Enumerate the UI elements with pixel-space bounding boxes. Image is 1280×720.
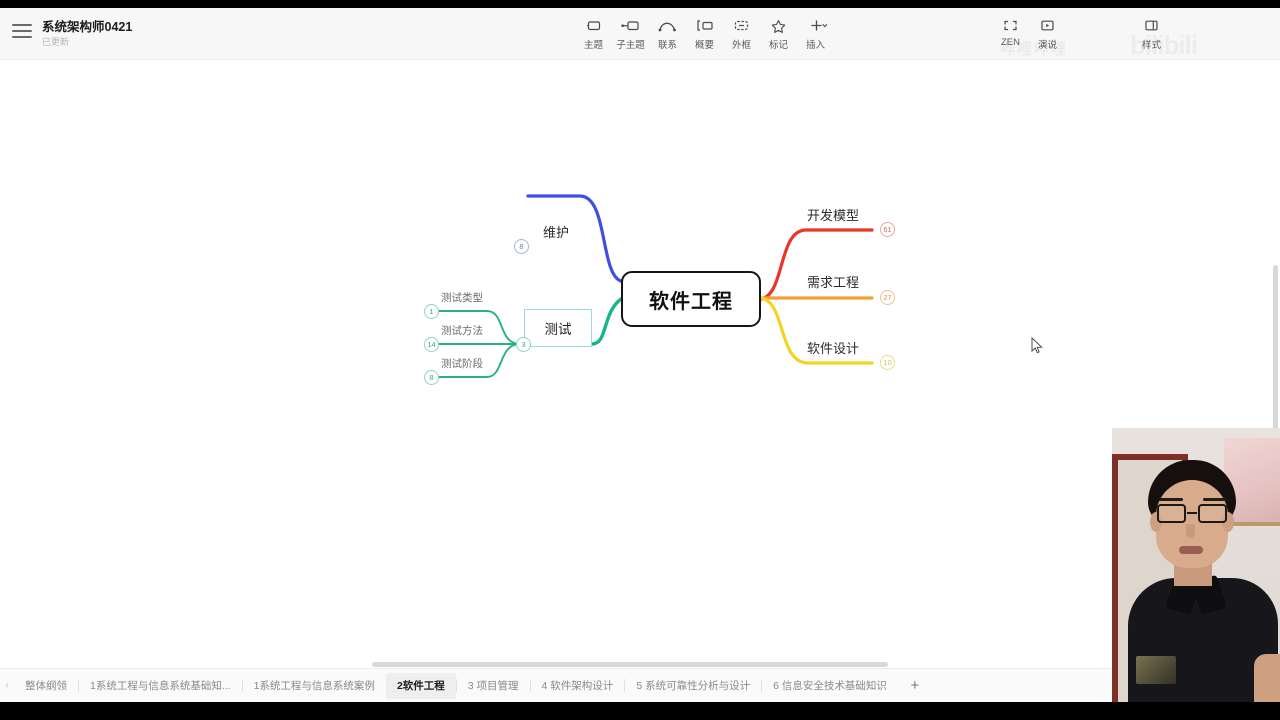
webcam-shirt-logo bbox=[1136, 656, 1176, 684]
main-toolbar: 主题 子主题 联系 bbox=[575, 16, 834, 51]
toolbar-label-boundary: 外框 bbox=[732, 37, 751, 51]
toolbar-label-presentation: 演说 bbox=[1038, 37, 1057, 51]
mindmap-badge-test-type[interactable]: 1 bbox=[424, 304, 439, 319]
topic-icon bbox=[585, 16, 602, 35]
letterbox-bottom bbox=[0, 702, 1280, 720]
mindmap-badge-requirement[interactable]: 27 bbox=[880, 290, 895, 305]
toolbar-label-summary: 概要 bbox=[695, 37, 714, 51]
screen-root: 系统架构师0421 已更新 主题 子主题 bbox=[0, 0, 1280, 720]
mindmap-node-testing[interactable]: 测试 bbox=[524, 309, 592, 347]
document-title: 系统架构师0421 bbox=[42, 19, 132, 35]
sheet-tab-6[interactable]: 5 系统可靠性分析与设计 bbox=[625, 673, 761, 699]
add-sheet-button[interactable]: + bbox=[904, 677, 926, 694]
webcam-nose bbox=[1186, 524, 1195, 538]
mindmap-central-node[interactable]: 软件工程 bbox=[621, 271, 761, 327]
mindmap-canvas[interactable]: 软件工程 开发模型 61 需求工程 27 软件设计 10 维护 8 测试 3 测… bbox=[0, 60, 1280, 650]
toolbar-label-marker: 标记 bbox=[769, 37, 788, 51]
view-toolbar: ZEN 演说 bbox=[992, 16, 1066, 51]
toolbar-label-style: 样式 bbox=[1142, 37, 1161, 51]
hamburger-menu-icon[interactable] bbox=[12, 24, 32, 40]
mindmap-node-requirement[interactable]: 需求工程 bbox=[807, 272, 859, 291]
mindmap-connectors bbox=[0, 60, 1280, 650]
webcam-lens-left bbox=[1157, 504, 1186, 523]
toolbar-button-topic[interactable]: 主题 bbox=[575, 16, 612, 51]
toolbar-button-summary[interactable]: 概要 bbox=[686, 16, 723, 51]
mindmap-badge-software-design[interactable]: 10 bbox=[880, 355, 895, 370]
horizontal-scrollbar-thumb[interactable] bbox=[372, 662, 888, 667]
webcam-glasses bbox=[1156, 504, 1228, 523]
toolbar-label-zen: ZEN bbox=[1001, 37, 1020, 48]
letterbox-top bbox=[0, 0, 1280, 8]
mindmap-node-test-type[interactable]: 测试类型 bbox=[441, 290, 483, 305]
document-save-status: 已更新 bbox=[42, 36, 132, 48]
toolbar-button-subtopic[interactable]: 子主题 bbox=[612, 16, 649, 51]
mindmap-node-test-phase[interactable]: 测试阶段 bbox=[441, 356, 483, 371]
mindmap-node-dev-model[interactable]: 开发模型 bbox=[807, 205, 859, 224]
toolbar-button-marker[interactable]: 标记 bbox=[760, 16, 797, 51]
mindmap-node-software-design[interactable]: 软件设计 bbox=[807, 338, 859, 357]
subtopic-icon bbox=[621, 16, 640, 35]
app-header: 系统架构师0421 已更新 主题 子主题 bbox=[0, 8, 1280, 60]
style-panel-icon bbox=[1143, 16, 1160, 35]
sheet-tab-7[interactable]: 6 信息安全技术基础知识 bbox=[762, 673, 898, 699]
marker-icon bbox=[770, 16, 787, 35]
presentation-icon bbox=[1039, 16, 1056, 35]
mouse-cursor bbox=[1031, 337, 1043, 354]
mindmap-badge-maintenance[interactable]: 8 bbox=[514, 239, 529, 254]
toolbar-button-boundary[interactable]: 外框 bbox=[723, 16, 760, 51]
toolbar-label-insert: 插入 bbox=[806, 37, 825, 51]
mindmap-badge-dev-model[interactable]: 61 bbox=[880, 222, 895, 237]
mindmap-badge-testing[interactable]: 3 bbox=[516, 337, 531, 352]
webcam-eyebrow-right bbox=[1203, 498, 1227, 501]
document-title-block[interactable]: 系统架构师0421 已更新 bbox=[42, 19, 132, 48]
mindmap-node-maintenance[interactable]: 维护 bbox=[543, 222, 569, 241]
toolbar-button-zen[interactable]: ZEN bbox=[992, 16, 1029, 48]
sheet-tab-3-active[interactable]: 2软件工程 bbox=[386, 673, 456, 699]
webcam-eyebrow-left bbox=[1159, 498, 1183, 501]
toolbar-button-style[interactable]: 样式 bbox=[1133, 16, 1170, 51]
sheet-tab-2[interactable]: 1系统工程与信息系统案例 bbox=[243, 673, 386, 699]
style-toolbar: 样式 bbox=[1133, 16, 1170, 51]
toolbar-label-subtopic: 子主题 bbox=[616, 37, 645, 51]
toolbar-label-relation: 联系 bbox=[658, 37, 677, 51]
mindmap-node-test-method[interactable]: 测试方法 bbox=[441, 323, 483, 338]
vertical-scrollbar-thumb[interactable] bbox=[1273, 265, 1278, 445]
summary-icon bbox=[696, 16, 713, 35]
sheet-tab-0[interactable]: 整体纲领 bbox=[14, 673, 78, 699]
webcam-lens-right bbox=[1198, 504, 1227, 523]
toolbar-label-topic: 主题 bbox=[584, 37, 603, 51]
mindmap-badge-test-method[interactable]: 14 bbox=[424, 337, 439, 352]
zen-mode-icon bbox=[1002, 16, 1019, 35]
boundary-icon bbox=[733, 16, 750, 35]
toolbar-button-insert[interactable]: 插入 bbox=[797, 16, 834, 51]
insert-plus-icon bbox=[805, 16, 827, 35]
webcam-mouth bbox=[1179, 546, 1203, 554]
webcam-glasses-bridge bbox=[1187, 512, 1197, 514]
webcam-overlay bbox=[1112, 428, 1280, 702]
mindmap-badge-test-phase[interactable]: 8 bbox=[424, 370, 439, 385]
relation-icon bbox=[658, 16, 677, 35]
sheet-tab-bar: ‹ 整体纲领 1系统工程与信息系统基础知... 1系统工程与信息系统案例 2软件… bbox=[0, 668, 1280, 702]
sheet-tab-4[interactable]: 3 项目管理 bbox=[457, 673, 530, 699]
webcam-person-arm bbox=[1254, 654, 1280, 702]
sheet-tab-1[interactable]: 1系统工程与信息系统基础知... bbox=[79, 673, 242, 699]
toolbar-button-relation[interactable]: 联系 bbox=[649, 16, 686, 51]
sheet-tab-5[interactable]: 4 软件架构设计 bbox=[531, 673, 625, 699]
mindmap-app-window: 系统架构师0421 已更新 主题 子主题 bbox=[0, 8, 1280, 702]
tab-scroll-left-button[interactable]: ‹ bbox=[0, 680, 14, 691]
toolbar-button-presentation[interactable]: 演说 bbox=[1029, 16, 1066, 51]
